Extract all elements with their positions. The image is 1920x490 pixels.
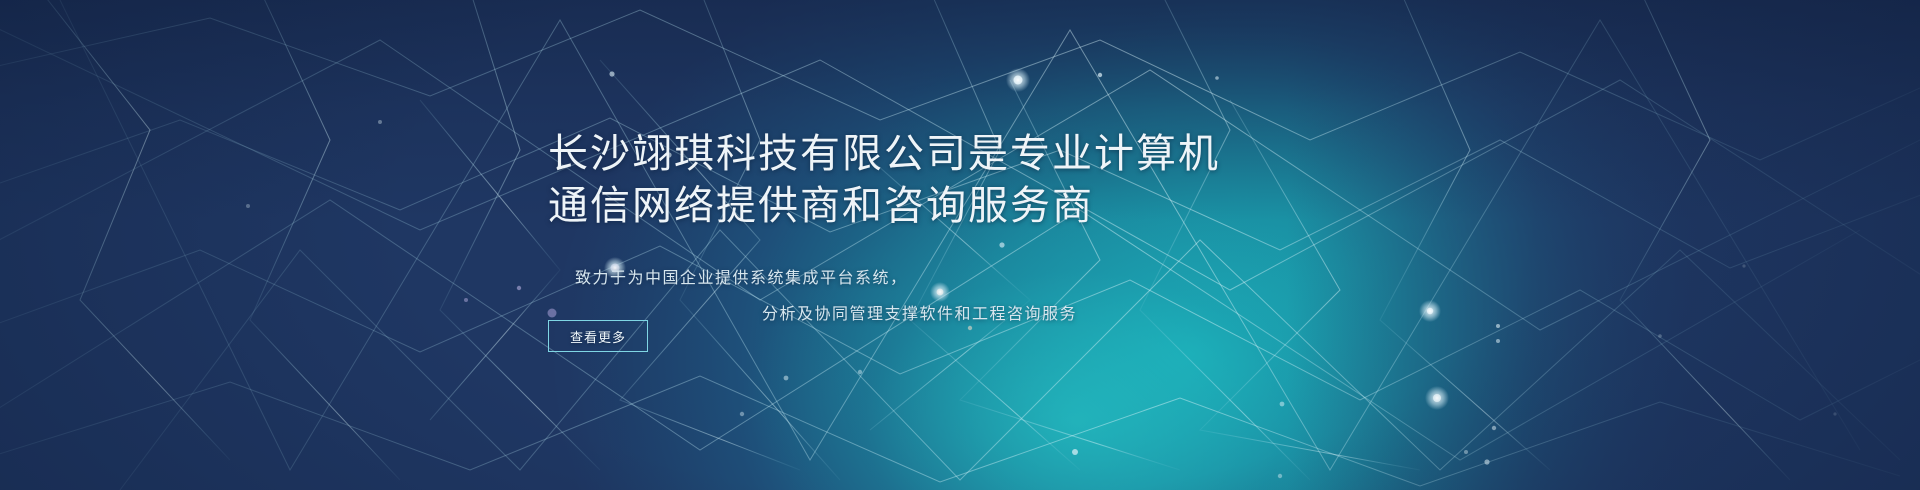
headline-line-2: 通信网络提供商和咨询服务商 xyxy=(548,180,1208,232)
hero-banner: 长沙翊琪科技有限公司是专业计算机 通信网络提供商和咨询服务商 致力于为中国企业提… xyxy=(0,0,1920,490)
banner-subtitle-line-1: 致力于为中国企业提供系统集成平台系统， xyxy=(575,258,1295,300)
banner-headline: 长沙翊琪科技有限公司是专业计算机 通信网络提供商和咨询服务商 xyxy=(548,128,1208,232)
view-more-button[interactable]: 查看更多 xyxy=(548,320,648,352)
banner-content: 长沙翊琪科技有限公司是专业计算机 通信网络提供商和咨询服务商 致力于为中国企业提… xyxy=(0,0,1920,490)
banner-subtitle-line-2: 分析及协同管理支撑软件和工程咨询服务 xyxy=(762,300,1077,324)
headline-line-1: 长沙翊琪科技有限公司是专业计算机 xyxy=(548,132,1220,176)
